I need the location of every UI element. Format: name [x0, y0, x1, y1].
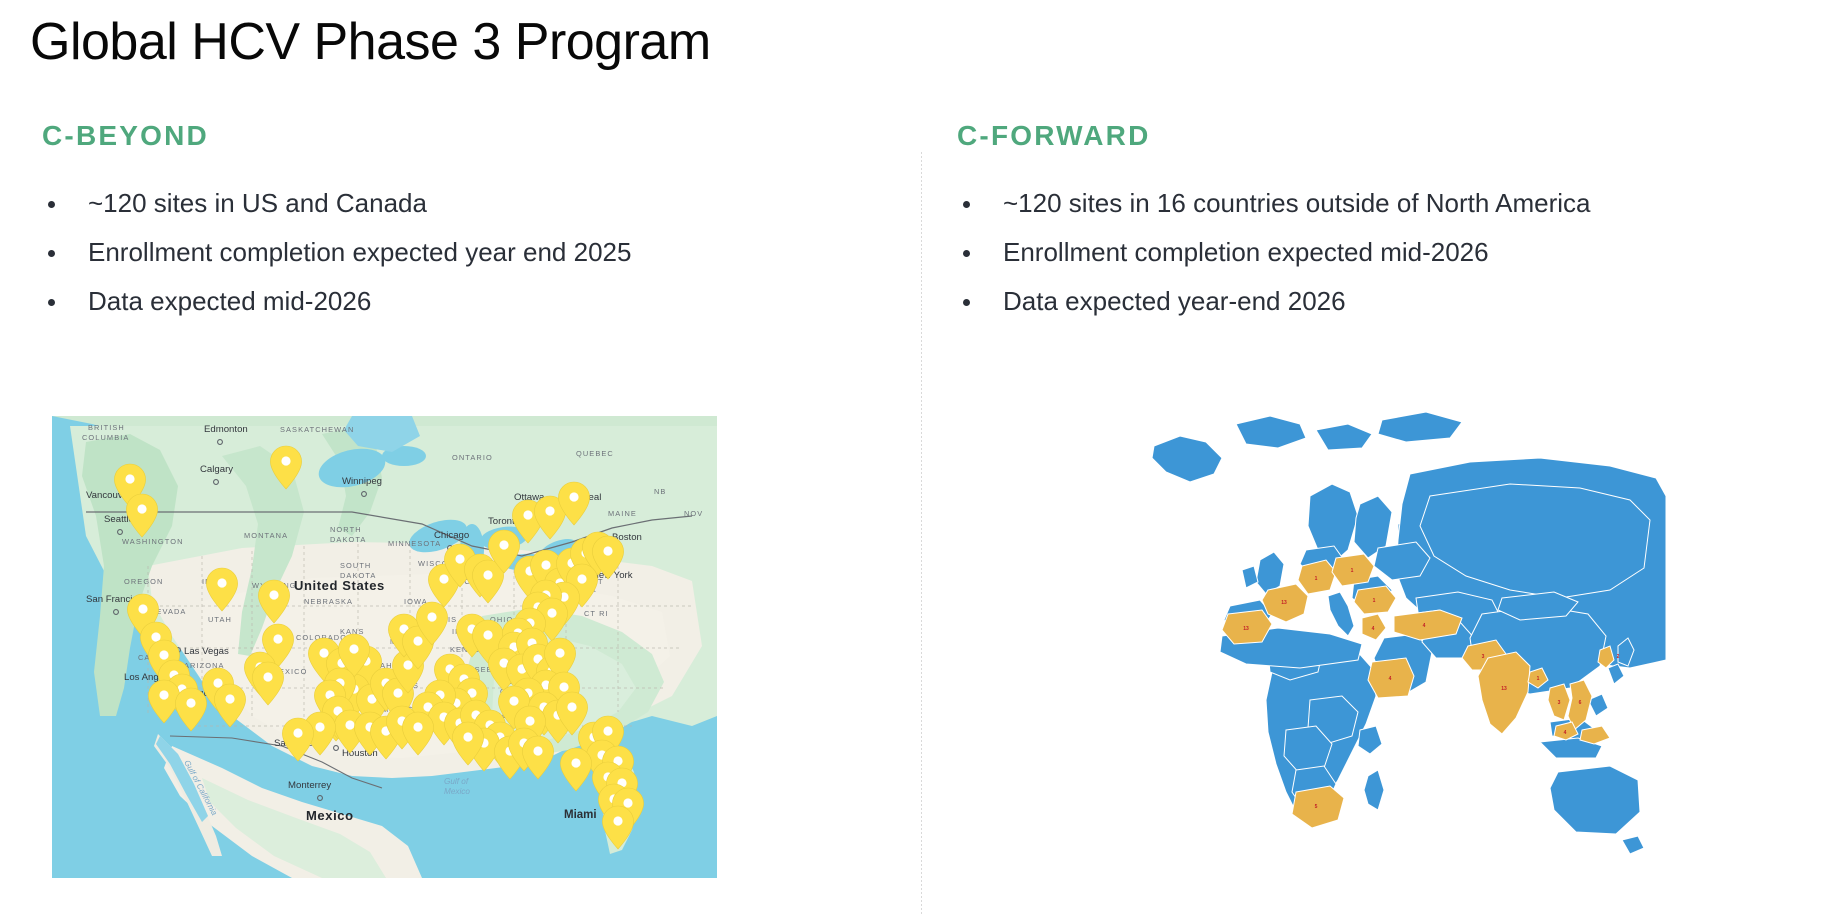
site-count: 4: [1372, 626, 1375, 632]
map-label: NORTH: [330, 525, 362, 534]
map-label: CT RI: [584, 609, 609, 618]
map-country-label: United States: [294, 578, 385, 593]
study-title-c-forward: C-FORWARD: [957, 120, 1815, 152]
column-c-forward: C-FORWARD ~120 sites in 16 countries out…: [955, 120, 1815, 331]
site-count: 6: [1579, 700, 1582, 706]
map-label: BRITISH: [88, 423, 125, 432]
map-label: MAINE: [608, 509, 637, 518]
country-south-africa[interactable]: [1292, 786, 1344, 828]
bullet-list-c-beyond: ~120 sites in US and Canada Enrollment c…: [40, 184, 900, 320]
site-count: 4: [1423, 623, 1426, 629]
bullet-text: ~120 sites in 16 countries outside of No…: [1003, 188, 1591, 218]
map-label: MONTANA: [244, 531, 288, 540]
site-count: 13: [1501, 686, 1507, 692]
list-item: Data expected year-end 2026: [955, 282, 1815, 320]
map-label: SASKATCHEWAN: [280, 425, 354, 434]
site-count: 3: [1482, 654, 1485, 660]
map-label: NB: [654, 487, 666, 496]
north-america-site-map[interactable]: BRITISH COLUMBIA SASKATCHEWAN ONTARIO QU…: [52, 416, 717, 878]
map-label: OREGON: [124, 577, 163, 586]
list-item: Enrollment completion expected year end …: [40, 233, 900, 271]
bullet-text: Data expected year-end 2026: [1003, 286, 1346, 316]
bullet-dot-icon: [963, 201, 970, 208]
map-label: NOV: [684, 509, 703, 518]
bullet-text: Data expected mid-2026: [88, 286, 371, 316]
slide-canvas: Global HCV Phase 3 Program C-BEYOND ~120…: [0, 0, 1826, 916]
map-city-label: Calgary: [200, 464, 233, 475]
site-count: 4: [1564, 730, 1567, 736]
map-label: UTAH: [208, 615, 232, 624]
map-label: COLUMBIA: [82, 433, 129, 442]
list-item: Enrollment completion expected mid-2026: [955, 233, 1815, 271]
map-water-label: Mexico: [444, 787, 470, 796]
site-count: 1: [1537, 676, 1540, 682]
map-country-label: Mexico: [306, 808, 354, 823]
map-label: NEBRASKA: [304, 597, 353, 606]
site-count: 1: [1373, 598, 1376, 604]
bullet-dot-icon: [48, 250, 55, 257]
map-city-label: Monterrey: [288, 780, 331, 791]
map-city-label: Edmonton: [204, 424, 248, 435]
bullet-list-c-forward: ~120 sites in 16 countries outside of No…: [955, 184, 1815, 320]
list-item: ~120 sites in US and Canada: [40, 184, 900, 222]
study-title-c-beyond: C-BEYOND: [42, 120, 900, 152]
page-title: Global HCV Phase 3 Program: [30, 10, 711, 74]
map-label: ONTARIO: [452, 453, 493, 462]
bullet-text: Enrollment completion expected mid-2026: [1003, 237, 1489, 267]
list-item: ~120 sites in 16 countries outside of No…: [955, 184, 1815, 222]
bullet-dot-icon: [963, 299, 970, 306]
map-water-label: Gulf of: [444, 777, 469, 786]
column-c-beyond: C-BEYOND ~120 sites in US and Canada Enr…: [40, 120, 900, 331]
bullet-text: Enrollment completion expected year end …: [88, 237, 631, 267]
world-country-choropleth[interactable]: 13 13 1 1 1 4 4 4 5 3 13 1 3 6 4 2: [1110, 400, 1670, 900]
bullet-dot-icon: [48, 201, 55, 208]
map-city-label: Las Vegas: [184, 646, 229, 657]
map-label: SOUTH: [340, 561, 371, 570]
map-label: QUEBEC: [576, 449, 614, 458]
country-india[interactable]: [1478, 652, 1530, 734]
site-count: 2: [1617, 654, 1620, 660]
bullet-dot-icon: [963, 250, 970, 257]
map-label: WASHINGTON: [122, 537, 184, 546]
site-count: 1: [1315, 576, 1318, 582]
site-count: 13: [1243, 626, 1249, 632]
column-divider: [921, 152, 922, 916]
map-label: DAKOTA: [330, 535, 366, 544]
us-map-svg: BRITISH COLUMBIA SASKATCHEWAN ONTARIO QU…: [52, 416, 717, 878]
site-count: 13: [1281, 600, 1287, 606]
bullet-text: ~120 sites in US and Canada: [88, 188, 427, 218]
world-map-svg: 13 13 1 1 1 4 4 4 5 3 13 1 3 6 4 2: [1110, 400, 1670, 900]
site-count: 4: [1389, 676, 1392, 682]
site-count: 5: [1315, 804, 1318, 810]
list-item: Data expected mid-2026: [40, 282, 900, 320]
map-city-label: Winnipeg: [342, 476, 382, 487]
site-count: 1: [1351, 568, 1354, 574]
site-count: 3: [1558, 700, 1561, 706]
map-city-label: Miami: [564, 809, 597, 821]
map-city-label: Chicago: [434, 530, 469, 541]
bullet-dot-icon: [48, 299, 55, 306]
